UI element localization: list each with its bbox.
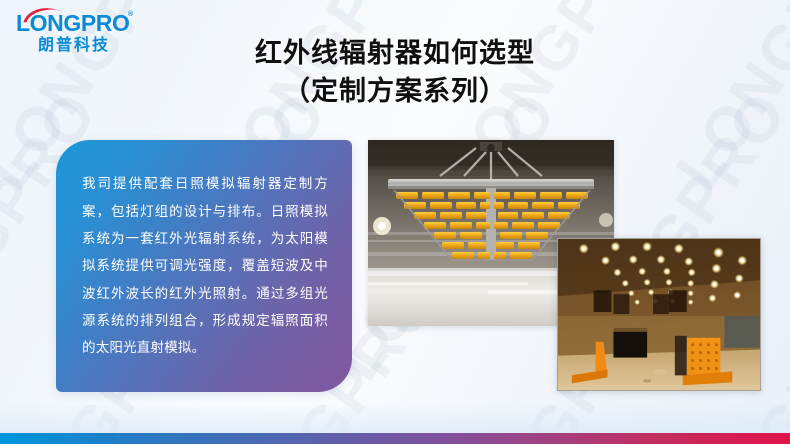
company-logo: LONGPRO ® 朗普科技 xyxy=(16,8,148,55)
registered-trademark-icon: ® xyxy=(128,11,133,18)
watermark-text: LONGPRO xyxy=(322,0,572,13)
slide-canvas: LONGPROLONGPROLONGPROLONGPROLONGPROLONGP… xyxy=(0,0,790,444)
description-paragraph: 我司提供配套日照模拟辐射器定制方案，包括灯组的设计与排布。日照模拟系统为一套红外… xyxy=(56,170,352,362)
bottom-accent-bar xyxy=(0,433,790,444)
logo-mark: LONGPRO ® xyxy=(16,8,148,36)
description-card: 我司提供配套日照模拟辐射器定制方案，包括灯组的设计与排布。日照模拟系统为一套红外… xyxy=(56,140,352,392)
watermark-text: LONGPRO xyxy=(782,78,790,393)
logo-chinese-name: 朗普科技 xyxy=(16,37,132,55)
logo-wordmark: LONGPRO xyxy=(16,12,129,35)
watermark-text: LONGPRO xyxy=(552,0,790,13)
bottom-sheen xyxy=(0,403,790,433)
photo-test-chamber xyxy=(557,238,761,391)
watermark-text: LONGPRO xyxy=(782,0,790,13)
title-line-2: （定制方案系列） xyxy=(0,72,790,110)
